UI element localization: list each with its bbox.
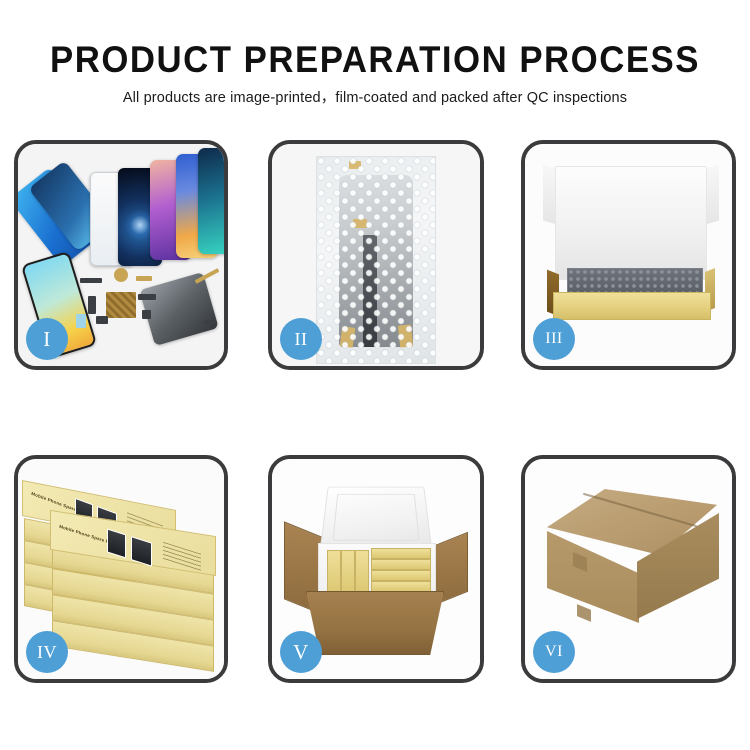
bubble-texture-icon: [317, 157, 435, 363]
packed-box-5: [371, 559, 431, 570]
foam-cooler-lid-icon: [320, 487, 433, 550]
packed-box-3: [355, 550, 369, 592]
process-step-panel-6[interactable]: VI: [521, 455, 736, 683]
packed-box-2: [341, 550, 355, 592]
vibration-motor-icon: [96, 316, 108, 324]
camera-module-icon: [114, 268, 128, 282]
flex-cable-icon: [136, 276, 152, 281]
step-badge-4: IV: [26, 631, 68, 673]
mailer-lid-icon: [555, 166, 707, 280]
step-badge-6: VI: [533, 631, 575, 673]
phone-backplate-icon: [139, 272, 218, 346]
packed-box-6: [371, 570, 431, 581]
battery-connector-icon: [80, 278, 102, 283]
packed-box-1: [327, 550, 341, 592]
sensor-part-icon: [76, 314, 86, 328]
packed-box-4: [371, 548, 431, 559]
antenna-flex-icon: [138, 294, 156, 300]
sim-tray-icon: [142, 310, 151, 319]
bubble-wrap-bag-icon: [316, 156, 436, 364]
packed-box-7: [371, 581, 431, 592]
step-badge-3: III: [533, 318, 575, 360]
process-step-panel-4[interactable]: Mobile Phone Spare Parts Mobile Phone Sp…: [14, 455, 228, 683]
step-badge-5: V: [280, 631, 322, 673]
phone-display-teal-icon: [198, 148, 228, 254]
foam-lid-rim-icon: [333, 494, 420, 541]
step-badge-1: I: [26, 318, 68, 360]
mailer-front-panel-icon: [553, 292, 711, 320]
process-step-panel-2[interactable]: II: [268, 140, 484, 370]
foam-cooler-body-icon: [318, 543, 436, 597]
process-step-grid: I II III: [0, 0, 750, 750]
process-step-panel-5[interactable]: V: [268, 455, 484, 683]
carton-tab-lower-icon: [577, 604, 591, 622]
box-label-product-window-b1: [107, 528, 126, 558]
speaker-module-icon: [88, 296, 96, 314]
box-label-spec-lines-b: [163, 542, 201, 572]
process-step-panel-1[interactable]: I: [14, 140, 228, 370]
step-badge-2: II: [280, 318, 322, 360]
process-step-panel-3[interactable]: III: [521, 140, 736, 370]
box-label-product-window-b2: [131, 536, 152, 567]
screw-set-icon: [204, 320, 216, 324]
carton-body-icon: [306, 591, 444, 655]
logic-board-icon: [106, 292, 136, 318]
